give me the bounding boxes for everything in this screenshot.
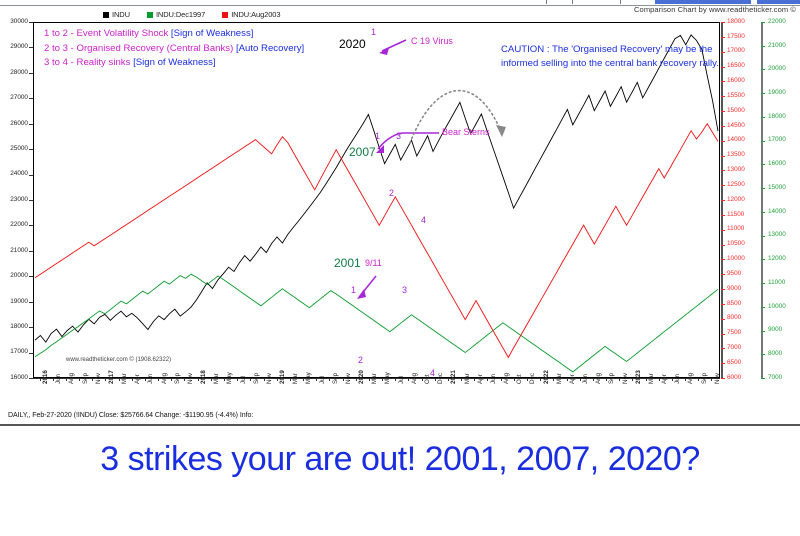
axis-tick-label: 9000 (768, 327, 782, 333)
x-axis-tick-mark (343, 378, 344, 381)
x-axis-tick-mark (132, 378, 133, 381)
axis-tick-label: 18000 (10, 324, 28, 330)
x-axis-tick-mark (593, 378, 594, 381)
x-axis-tick-label: Mar (213, 373, 220, 384)
x-axis-tick-mark (501, 378, 502, 381)
x-axis-tick-mark (329, 378, 330, 381)
axis-tick-mark (721, 245, 725, 246)
strip-highlight[interactable] (655, 0, 751, 4)
x-axis-tick-mark (408, 378, 409, 381)
legend-item-indu[interactable]: INDU (103, 10, 130, 19)
x-axis-tick-label: Jun (582, 374, 589, 384)
axis-tick-mark (721, 22, 725, 23)
note-1-tag: [Sign of Weakness] (171, 28, 253, 39)
x-axis-tick-mark (303, 378, 304, 381)
axis-tick-mark (761, 22, 765, 23)
x-axis-tick-mark (79, 378, 80, 381)
axis-tick-label: 21000 (10, 248, 28, 254)
x-axis-tick-label: Apr (661, 374, 668, 384)
x-axis-tick-mark (580, 378, 581, 381)
axis-tick-label: 8500 (727, 301, 741, 307)
axis-tick-label: 13500 (727, 152, 745, 158)
wave-label-2007-1: 1 (375, 131, 380, 141)
legend-label-indu: INDU (112, 10, 130, 19)
x-axis-tick-mark (171, 378, 172, 381)
x-axis-tick-label: Mar (648, 373, 655, 384)
axis-tick-mark (761, 141, 765, 142)
x-axis-tick-label: Jun (55, 374, 62, 384)
x-axis-tick-mark (92, 378, 93, 381)
x-axis-tick-mark (487, 378, 488, 381)
axis-tick-mark (761, 69, 765, 70)
x-axis-tick-label: Nov (187, 373, 194, 384)
note-line-3: 3 to 4 - Reality sinks [Sign of Weakness… (44, 57, 304, 68)
axis-tick-mark (761, 283, 765, 284)
axis-tick-label: 30000 (10, 19, 28, 25)
axis-tick-label: 13000 (727, 167, 745, 173)
slide-caption: 3 strikes your are out! 2001, 2007, 2020… (0, 440, 800, 479)
x-axis-tick-label: Nov (95, 373, 102, 384)
legend-swatch-indu (103, 12, 109, 18)
legend-item-indu-aug2003[interactable]: INDU:Aug2003 (222, 10, 280, 19)
legend-label-indu-dec1997: INDU:Dec1997 (156, 10, 205, 19)
x-axis-tick-mark (224, 378, 225, 381)
x-axis-tick-label: Sep (332, 373, 339, 384)
axis-tick-mark (721, 81, 725, 82)
c19-virus-label: C 19 Virus (411, 36, 453, 47)
axis-tick-label: 13000 (768, 232, 786, 238)
nine-eleven-label: 9/11 (365, 258, 382, 269)
axis-tick-mark (721, 348, 725, 349)
axis-tick-mark (721, 215, 725, 216)
x-axis-tick-label: Mar (556, 373, 563, 384)
axis-tick-label: 15500 (727, 93, 745, 99)
axis-tick-mark (761, 236, 765, 237)
plot-area[interactable]: 1 to 2 - Event Volatility Shock [Sign of… (33, 22, 720, 378)
x-axis-tick-label: Apr (477, 374, 484, 384)
strip-highlight[interactable] (757, 0, 800, 4)
axis-tick-mark (761, 46, 765, 47)
chart-watermark: www.readtheticker.com © (1908.62322) (66, 357, 171, 363)
x-axis-tick-label: Apr (569, 374, 576, 384)
x-axis-tick-mark (527, 378, 528, 381)
axis-tick-label: 22000 (768, 19, 786, 25)
chart-credit: Comparison Chart by www.readtheticker.co… (520, 5, 796, 14)
x-axis-tick-label: Dec (437, 373, 444, 384)
wave-label-2007-3: 3 (396, 131, 401, 141)
x-axis-tick-mark (277, 378, 278, 381)
axis-tick-mark (721, 230, 725, 231)
axis-tick-mark (721, 274, 725, 275)
axis-tick-label: 21000 (768, 43, 786, 49)
x-axis-tick-label: Mar (121, 373, 128, 384)
axis-tick-mark (761, 188, 765, 189)
legend-swatch-indu-aug2003 (222, 12, 228, 18)
note-line-2: 2 to 3 - Organised Recovery (Central Ban… (44, 43, 304, 54)
y-axis-right-aug2003: 6000650070007500800085009000950010000105… (721, 22, 761, 378)
axis-tick-label: 20000 (768, 66, 786, 72)
axis-tick-mark (761, 164, 765, 165)
axis-tick-label: 9500 (727, 271, 741, 277)
axis-tick-mark (721, 37, 725, 38)
x-axis-tick-label: 2020 (358, 370, 365, 384)
axis-tick-label: 6000 (727, 375, 741, 381)
axis-tick-label: 8000 (727, 315, 741, 321)
axis-tick-label: 10500 (727, 241, 745, 247)
axis-tick-mark (761, 307, 765, 308)
x-axis-tick-mark (567, 378, 568, 381)
wave-legend-notes: 1 to 2 - Event Volatility Shock [Sign of… (44, 28, 304, 72)
axis-tick-label: 23000 (10, 197, 28, 203)
axis-tick-label: 8000 (768, 351, 782, 357)
x-axis-tick-mark (211, 378, 212, 381)
x-axis-tick-mark (369, 378, 370, 381)
axis-tick-label: 19000 (10, 299, 28, 305)
axis-tick-label: 11000 (768, 280, 785, 286)
axis-tick-label: 10000 (768, 304, 786, 310)
wave-label-2020-1: 1 (371, 27, 376, 37)
axis-tick-label: 14000 (768, 209, 786, 215)
x-axis-tick-label: Sep (608, 373, 615, 384)
x-axis-tick-mark (184, 378, 185, 381)
axis-tick-label: 16500 (727, 63, 745, 69)
x-axis-tick-label: Jun (674, 374, 681, 384)
x-axis-tick-label: 2018 (200, 370, 207, 384)
year-label-2020: 2020 (339, 37, 366, 51)
axis-tick-label: 10000 (727, 256, 745, 262)
x-axis-tick-mark (672, 378, 673, 381)
series-line-indu (35, 35, 718, 342)
axis-tick-label: 16000 (727, 78, 745, 84)
x-axis-tick-mark (382, 378, 383, 381)
x-axis-tick-mark (448, 378, 449, 381)
axis-tick-mark (721, 200, 725, 201)
x-axis-tick-label: Aug (411, 373, 418, 384)
axis-tick-label: 12500 (727, 182, 745, 188)
note-3-tag: [Sign of Weakness] (133, 57, 215, 68)
x-axis-tick-mark (632, 378, 633, 381)
axis-tick-label: 25000 (10, 146, 28, 152)
axis-tick-label: 17500 (727, 34, 745, 40)
axis-tick-label: 20000 (10, 273, 28, 279)
x-axis-tick-mark (66, 378, 67, 381)
x-axis-tick-label: Mar (371, 373, 378, 384)
x-axis-tick-mark (553, 378, 554, 381)
axis-tick-mark (761, 259, 765, 260)
x-axis-tick-mark (646, 378, 647, 381)
x-axis-tick-mark (250, 378, 251, 381)
caution-note: CAUTION : The 'Organised Recovery' may b… (501, 43, 720, 70)
x-axis-tick-label: May (226, 372, 233, 384)
x-axis-tick-label: Nov (714, 373, 721, 384)
y-axis-right-dec1997: 7000800090001000011000120001300014000150… (761, 22, 800, 378)
axis-tick-label: 19000 (768, 90, 786, 96)
axis-tick-mark (721, 185, 725, 186)
x-axis-tick-mark (264, 378, 265, 381)
axis-tick-mark (721, 363, 725, 364)
axis-tick-mark (761, 212, 765, 213)
axis-tick-label: 26000 (10, 121, 28, 127)
note-2-text: 2 to 3 - Organised Recovery (Central Ban… (44, 43, 233, 54)
x-axis-tick-label: Oct (424, 374, 431, 384)
x-axis-tick-label: 2022 (543, 370, 550, 384)
x-axis-tick-label: Aug (161, 373, 168, 384)
wave-label-2007-2: 2 (389, 188, 394, 198)
x-axis: 2016JunAugSepNov2017MarAprJunAugSepNov20… (33, 378, 720, 408)
series-canvas (34, 23, 719, 377)
axis-tick-label: 15000 (768, 185, 786, 191)
x-axis-tick-mark (53, 378, 54, 381)
x-axis-tick-label: Mar (292, 373, 299, 384)
x-axis-tick-mark (290, 378, 291, 381)
legend-label-indu-aug2003: INDU:Aug2003 (231, 10, 280, 19)
axis-tick-label: 15000 (727, 108, 745, 114)
x-axis-tick-label: Apr (134, 374, 141, 384)
year-label-2001: 2001 (334, 256, 361, 270)
x-axis-tick-label: 2023 (635, 370, 642, 384)
x-axis-tick-mark (395, 378, 396, 381)
x-axis-tick-label: Oct (516, 374, 523, 384)
wave-label-2001-1: 1 (351, 285, 356, 295)
axis-tick-mark (761, 378, 765, 379)
chart-status-bar: DAILY,, Feb-27-2020 (!INDU) Close: $2576… (8, 412, 792, 419)
axis-tick-label: 24000 (10, 171, 28, 177)
x-axis-tick-label: Mar (464, 373, 471, 384)
x-axis-tick-label: Sep (82, 373, 89, 384)
axis-tick-mark (721, 289, 725, 290)
x-axis-tick-label: May (305, 372, 312, 384)
note-3-text: 3 to 4 - Reality sinks (44, 57, 130, 68)
status-divider (0, 424, 800, 426)
x-axis-tick-label: 2019 (279, 370, 286, 384)
x-axis-tick-label: Sep (701, 373, 708, 384)
x-axis-tick-mark (435, 378, 436, 381)
legend-item-indu-dec1997[interactable]: INDU:Dec1997 (147, 10, 205, 19)
note-line-1: 1 to 2 - Event Volatility Shock [Sign of… (44, 28, 304, 39)
axis-tick-mark (721, 52, 725, 53)
axis-tick-mark (721, 170, 725, 171)
axis-tick-mark (721, 141, 725, 142)
x-axis-tick-label: Nov (345, 373, 352, 384)
wave-label-2007-4: 4 (421, 215, 426, 225)
x-axis-tick-mark (105, 378, 106, 381)
y-axis-left-indu: 1600017000180001900020000210002200023000… (0, 22, 33, 378)
x-axis-tick-mark (659, 378, 660, 381)
axis-tick-label: 14500 (727, 123, 745, 129)
x-axis-tick-mark (237, 378, 238, 381)
x-axis-tick-label: Jul (398, 376, 405, 384)
x-axis-tick-label: Sep (253, 373, 260, 384)
x-axis-tick-label: Jul (240, 376, 247, 384)
axis-tick-mark (721, 334, 725, 335)
axis-tick-label: 22000 (10, 222, 28, 228)
axis-tick-mark (721, 156, 725, 157)
bear-stearns-label: Bear Sterns (442, 127, 490, 138)
x-axis-tick-label: Nov (266, 373, 273, 384)
axis-tick-mark (761, 117, 765, 118)
axis-tick-label: 17000 (10, 349, 28, 355)
note-1-text: 1 to 2 - Event Volatility Shock (44, 28, 168, 39)
axis-tick-mark (721, 378, 725, 379)
axis-tick-mark (761, 93, 765, 94)
axis-tick-label: 12000 (727, 197, 745, 203)
axis-tick-mark (761, 354, 765, 355)
axis-tick-mark (721, 96, 725, 97)
axis-tick-label: 16000 (10, 375, 28, 381)
x-axis-tick-mark (606, 378, 607, 381)
axis-tick-label: 6500 (727, 360, 741, 366)
wave-label-2001-3: 3 (402, 285, 407, 295)
x-axis-tick-label: Nov (622, 373, 629, 384)
x-axis-tick-label: Aug (503, 373, 510, 384)
axis-tick-label: 18000 (727, 19, 745, 25)
x-axis-tick-mark (356, 378, 357, 381)
x-axis-tick-mark (40, 378, 41, 381)
axis-tick-label: 28000 (10, 70, 28, 76)
axis-tick-label: 16000 (768, 161, 786, 167)
axis-tick-mark (761, 331, 765, 332)
x-axis-tick-mark (158, 378, 159, 381)
year-label-2007: 2007 (349, 145, 376, 159)
x-axis-tick-label: Aug (68, 373, 75, 384)
x-axis-tick-label: May (384, 372, 391, 384)
axis-tick-mark (721, 111, 725, 112)
note-2-tag: [Auto Recovery] (236, 43, 304, 54)
axis-tick-label: 11000 (727, 226, 744, 232)
x-axis-tick-mark (711, 378, 712, 381)
x-axis-tick-label: 2021 (450, 370, 457, 384)
axis-tick-label: 17000 (727, 48, 745, 54)
x-axis-tick-mark (474, 378, 475, 381)
axis-tick-label: 18000 (768, 114, 786, 120)
axis-tick-mark (721, 67, 725, 68)
axis-tick-label: 29000 (10, 44, 28, 50)
legend-swatch-indu-dec1997 (147, 12, 153, 18)
strip-tick (620, 0, 621, 4)
axis-spine (761, 22, 763, 378)
axis-tick-label: 7000 (768, 375, 782, 381)
x-axis-tick-label: Jun (147, 374, 154, 384)
axis-tick-label: 9000 (727, 286, 741, 292)
x-axis-tick-mark (461, 378, 462, 381)
axis-tick-label: 14000 (727, 137, 745, 143)
x-axis-tick-mark (698, 378, 699, 381)
x-axis-tick-mark (316, 378, 317, 381)
axis-tick-label: 12000 (768, 256, 786, 262)
x-axis-tick-mark (198, 378, 199, 381)
axis-tick-mark (721, 126, 725, 127)
x-axis-tick-mark (145, 378, 146, 381)
x-axis-tick-label: Jun (490, 374, 497, 384)
axis-tick-label: 11500 (727, 212, 744, 218)
x-axis-tick-mark (119, 378, 120, 381)
x-axis-tick-mark (514, 378, 515, 381)
x-axis-tick-mark (685, 378, 686, 381)
wave-label-2001-2: 2 (358, 355, 363, 365)
axis-tick-mark (721, 319, 725, 320)
comparison-chart: 1600017000180001900020000210002200023000… (0, 20, 800, 420)
x-axis-tick-label: Aug (687, 373, 694, 384)
x-axis-tick-label: Dec (529, 373, 536, 384)
x-axis-tick-label: Jul (319, 376, 326, 384)
x-axis-tick-label: Sep (174, 373, 181, 384)
axis-tick-label: 7500 (727, 330, 741, 336)
strip-tick (572, 0, 573, 4)
x-axis-tick-label: Aug (595, 373, 602, 384)
x-axis-tick-label: 2017 (108, 370, 115, 384)
x-axis-tick-mark (619, 378, 620, 381)
x-axis-tick-label: 2016 (42, 370, 49, 384)
x-axis-tick-mark (540, 378, 541, 381)
strip-tick (546, 0, 547, 4)
x-axis-tick-mark (422, 378, 423, 381)
axis-tick-mark (721, 304, 725, 305)
axis-tick-mark (721, 259, 725, 260)
axis-tick-label: 27000 (10, 95, 28, 101)
axis-tick-label: 7000 (727, 345, 741, 351)
axis-tick-label: 17000 (768, 137, 786, 143)
